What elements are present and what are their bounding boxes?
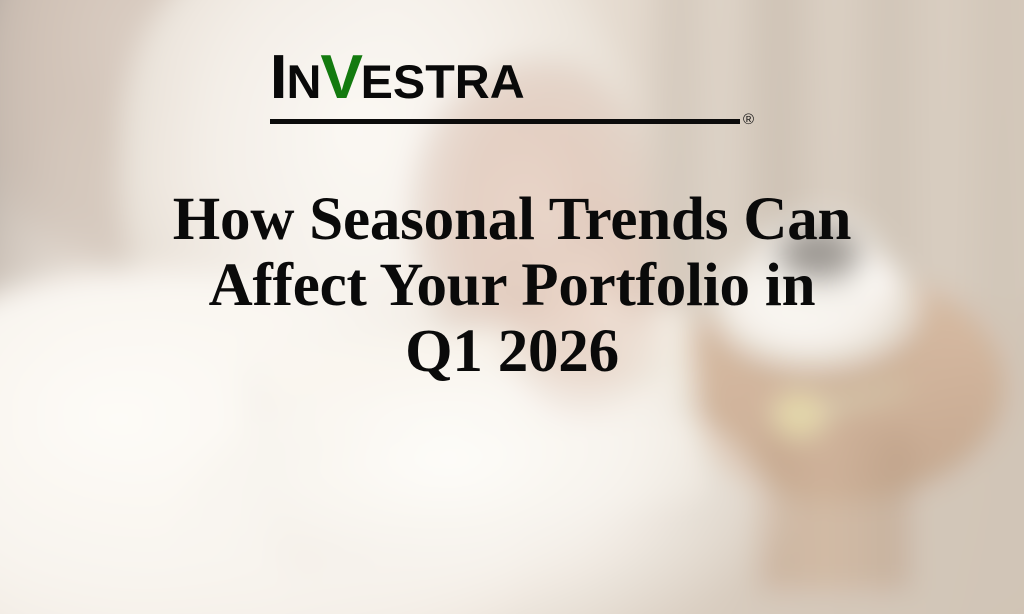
headline-line-1: How Seasonal Trends Can — [42, 187, 982, 253]
page-title: How Seasonal Trends Can Affect Your Port… — [42, 187, 982, 385]
article-hero-banner: I N V ESTRA ® How Seasonal Trends Can Af… — [0, 0, 1024, 614]
brand-underline — [270, 119, 740, 124]
brand-wordmark: I N V ESTRA — [270, 47, 522, 109]
logo-letter-i: I — [270, 47, 288, 109]
headline-line-2: Affect Your Portfolio in — [42, 253, 982, 319]
logo-letters-estra: ESTRA — [360, 58, 524, 105]
hero-content: I N V ESTRA ® How Seasonal Trends Can Af… — [0, 0, 1024, 614]
logo-letter-n: N — [287, 58, 322, 105]
registered-trademark-icon: ® — [743, 112, 754, 127]
logo-letter-v-accent: V — [321, 47, 364, 109]
brand-logo[interactable]: I N V ESTRA ® — [270, 47, 754, 124]
headline-line-3: Q1 2026 — [42, 319, 982, 385]
brand-underline-row: ® — [270, 112, 754, 124]
